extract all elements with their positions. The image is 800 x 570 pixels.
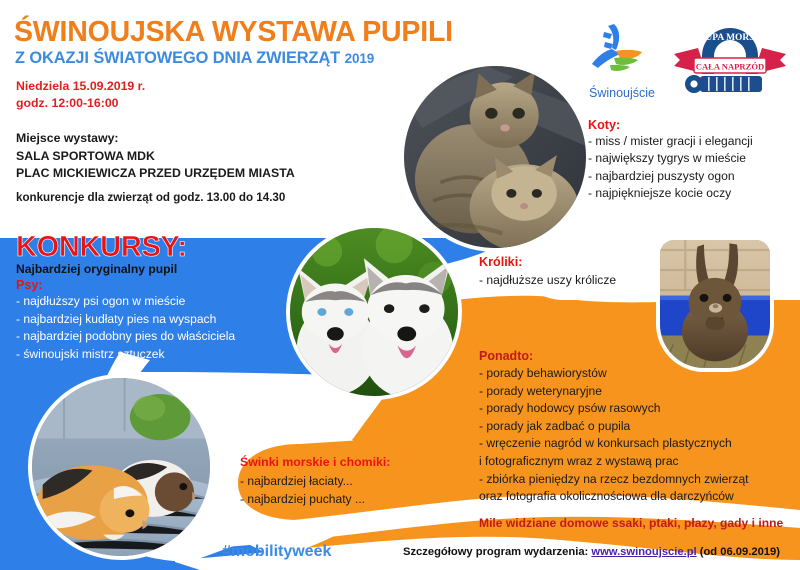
list-item: - najbardziej kudłaty pies na wyspach	[16, 311, 235, 329]
event-date: Niedziela 15.09.2019 r.	[16, 78, 145, 95]
list-item: - zbiórka pieniędzy na rzecz bezdomnych …	[479, 471, 749, 489]
list-item: - wręczenie nagród w konkursach plastycz…	[479, 435, 749, 453]
rabbits-contest-list: - najdłuższe uszy królicze	[479, 272, 616, 289]
dogs-contest-list: - najdłuższy psi ogon w mieście - najbar…	[16, 293, 235, 363]
venue-line-2: PLAC MICKIEWICZA PRZED URZĘDEM MIASTA	[16, 165, 295, 183]
list-item: - najdłuższe uszy królicze	[479, 272, 616, 289]
cats-photo	[404, 66, 586, 248]
guinea-pigs-heading: Świnki morskie i chomiki:	[240, 455, 390, 469]
rabbit-photo	[660, 240, 770, 368]
rabbits-heading: Króliki:	[479, 255, 522, 269]
program-info: Szczegółowy program wydarzenia: www.swin…	[403, 546, 780, 558]
list-item: - świnoujski mistrz sztuczek	[16, 346, 235, 364]
list-item: oraz fotografia okolicznościowa dla darc…	[479, 488, 749, 506]
hashtag-mobilityweek: #mobilityweek	[222, 543, 331, 561]
venue-block: Miejsce wystawy: SALA SPORTOWA MDK PLAC …	[16, 130, 295, 183]
poster-canvas: Świnoujście GRUPA MORSKA CAŁA NAPRZÓD ŚW…	[0, 0, 800, 570]
additionally-list: - porady behawiorystów - porady weteryna…	[479, 365, 749, 506]
list-item: - porady hodowcy psów rasowych	[479, 400, 749, 418]
list-item: - porady jak zadbać o pupila	[479, 418, 749, 436]
city-logo-caption: Świnoujście	[586, 86, 658, 100]
cats-heading: Koty:	[588, 118, 620, 132]
grupa-logo-arch-text: GRUPA MORSKA	[691, 33, 769, 43]
program-url-link[interactable]: www.swinoujscie.pl	[591, 546, 696, 558]
page-subtitle: Z OKAZJI ŚWIATOWEGO DNIA ZWIERZĄT 2019	[15, 49, 374, 68]
program-suffix: (od 06.09.2019)	[697, 546, 780, 558]
event-hours: godz. 12:00-16:00	[16, 95, 145, 112]
welcome-note: Mile widziane domowe ssaki, ptaki, płazy…	[479, 516, 783, 530]
additionally-heading: Ponadto:	[479, 349, 533, 363]
grupa-logo-banner-text: CAŁA NAPRZÓD	[696, 62, 765, 72]
subtitle-main: Z OKAZJI ŚWIATOWEGO DNIA ZWIERZĄT	[15, 49, 340, 67]
list-item: - najbardziej puchaty ...	[240, 490, 365, 508]
list-item: - najpiękniejsze kocie oczy	[588, 185, 753, 202]
swinoujscie-city-logo: Świnoujście	[586, 22, 658, 100]
competition-hours: konkurencje dla zwierząt od godz. 13.00 …	[16, 191, 285, 204]
guinea-pigs-photo	[32, 378, 210, 556]
list-item: - największy tygrys w mieście	[588, 150, 753, 167]
list-item: - najbardziej puszysty ogon	[588, 168, 753, 185]
original-pet-contest: Najbardziej oryginalny pupil	[16, 262, 177, 276]
grupa-morska-logo: GRUPA MORSKA CAŁA NAPRZÓD	[672, 20, 788, 98]
cats-contest-list: - miss / mister gracji i elegancji - naj…	[588, 133, 753, 203]
list-item: - porady behawiorystów	[479, 365, 749, 383]
event-date-block: Niedziela 15.09.2019 r. godz. 12:00-16:0…	[16, 78, 145, 112]
guinea-pigs-contest-list: - najbardziej łaciaty... - najbardziej p…	[240, 472, 365, 508]
list-item: - miss / mister gracji i elegancji	[588, 133, 753, 150]
list-item: - najbardziej podobny pies do właściciel…	[16, 328, 235, 346]
venue-line-1: SALA SPORTOWA MDK	[16, 148, 295, 166]
dogs-heading: Psy:	[16, 278, 43, 292]
venue-label: Miejsce wystawy:	[16, 130, 295, 148]
list-item: i fotograficznym wraz z wystawą prac	[479, 453, 749, 471]
list-item: - porady weterynaryjne	[479, 383, 749, 401]
subtitle-year: 2019	[345, 51, 375, 66]
contests-heading: KONKURSY:	[16, 231, 187, 264]
list-item: - najbardziej łaciaty...	[240, 472, 365, 490]
page-title: ŚWINOUJSKA WYSTAWA PUPILI	[14, 16, 453, 49]
program-prefix: Szczegółowy program wydarzenia:	[403, 546, 591, 558]
dogs-photo	[290, 228, 458, 396]
list-item: - najdłuższy psi ogon w mieście	[16, 293, 235, 311]
